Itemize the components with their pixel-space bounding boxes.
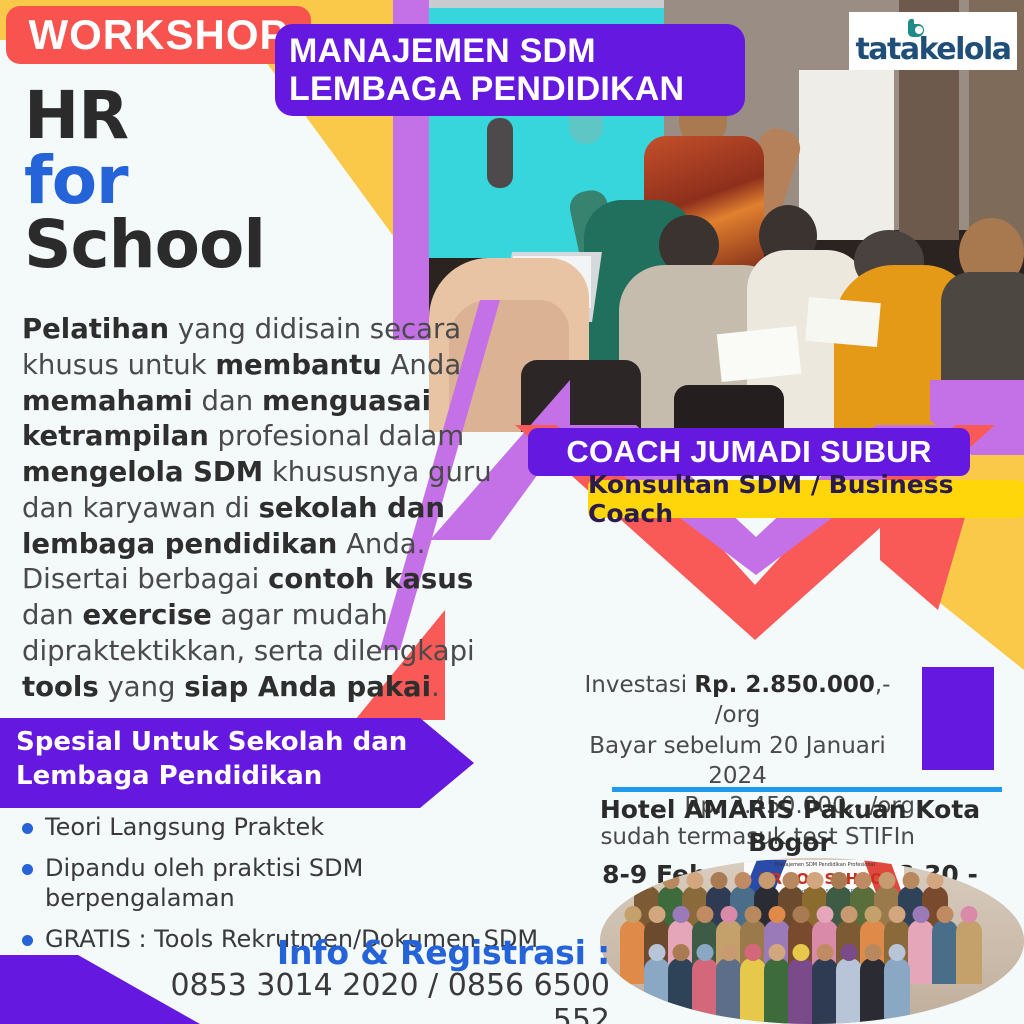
emphasis-text: tools: [22, 671, 99, 703]
group-photo-person-head: [759, 872, 776, 889]
group-photo-person: [764, 958, 790, 1024]
group-photo-person-head: [625, 906, 642, 923]
group-photo-person: [716, 958, 742, 1024]
coach-name-label: COACH JUMADI SUBUR: [566, 434, 931, 470]
special-offer-line-1: Spesial Untuk Sekolah dan: [16, 726, 474, 760]
bullet-dot-icon: [22, 935, 33, 946]
body-text: Anda: [382, 349, 461, 381]
group-photo-person: [860, 958, 886, 1024]
tatakelola-logo: tatakelola: [849, 12, 1017, 70]
group-photo-person-head: [903, 872, 920, 889]
contact-heading: Info & Registrasi :: [150, 933, 610, 972]
price-line-1: Investasi Rp. 2.850.000,- /org: [560, 670, 915, 731]
photo-paper-2: [805, 297, 881, 347]
price-line-2: Bayar sebelum 20 Januari 2024: [560, 731, 915, 792]
body-text: dan: [193, 385, 262, 417]
group-photo-person-head: [913, 906, 930, 923]
group-photo-person-head: [889, 944, 906, 961]
subject-banner: MANAJEMEN SDM LEMBAGA PENDIDIKAN: [275, 24, 745, 116]
group-photo-person-head: [745, 906, 762, 923]
group-photo-row: [644, 958, 910, 1024]
group-photo-person-head: [927, 872, 944, 889]
logo-wordmark: tatakelola: [855, 35, 1010, 65]
bullet-dot-icon: [22, 864, 33, 875]
group-photo-person: [956, 920, 982, 984]
photo-chair-2: [674, 385, 784, 432]
group-photo-person-head: [697, 944, 714, 961]
group-photo-person-head: [817, 906, 834, 923]
group-photo-person-head: [697, 906, 714, 923]
photo-flipchart: [799, 70, 894, 240]
group-photo-person: [620, 920, 646, 984]
emphasis-text: siap Anda pakai: [184, 671, 431, 703]
body-text: dan: [22, 599, 82, 631]
group-photo-person-head: [831, 872, 848, 889]
list-item: Dipandu oleh praktisi SDM berpengalaman: [22, 853, 542, 913]
group-photo-person-head: [663, 872, 680, 889]
list-item-label: Dipandu oleh praktisi SDM berpengalaman: [45, 853, 542, 913]
purple-square-accent: [922, 667, 994, 770]
contact-phone-numbers: 0853 3014 2020 / 0856 6500 552: [150, 968, 610, 1024]
group-photo-person: [668, 958, 694, 1024]
group-photo-person: [812, 958, 838, 1024]
list-item: Teori Langsung Praktek: [22, 812, 542, 842]
headline-line-2: for: [24, 149, 404, 214]
description-paragraph: Pelatihan yang didisain secara khusus un…: [22, 312, 500, 705]
group-photo-person: [788, 958, 814, 1024]
group-photo-banner-subtitle: Manajemen SDM Pendidikan Profesional: [750, 862, 900, 868]
bullet-dot-icon: [22, 823, 33, 834]
subject-banner-line-2: LEMBAGA PENDIDIKAN: [289, 70, 729, 108]
group-photo-person-head: [783, 872, 800, 889]
coach-role-label: Konsultan SDM / Business Coach: [588, 470, 1024, 528]
group-photo-person-head: [721, 944, 738, 961]
emphasis-text: membantu: [215, 349, 382, 381]
photo-raised-hand-b: [487, 118, 513, 188]
subject-banner-line-1: MANAJEMEN SDM: [289, 32, 729, 70]
poster-canvas: tatakelola WORKSHOP HR for School MANAJE…: [0, 0, 1024, 1024]
group-photo-person-head: [769, 906, 786, 923]
group-photo-person-head: [879, 872, 896, 889]
coach-role-banner: Konsultan SDM / Business Coach: [588, 480, 1024, 518]
group-photo-person-head: [961, 906, 978, 923]
emphasis-text: contoh kasus: [268, 563, 473, 595]
venue-line-1: Hotel AMARIS Pakuan Kota Bogor: [560, 794, 1020, 859]
group-photo-person: [884, 958, 910, 1024]
group-photo-person: [740, 958, 766, 1024]
group-photo-person-head: [649, 906, 666, 923]
group-photo-person: [644, 958, 670, 1024]
body-text: .: [431, 671, 440, 703]
special-offer-banner: Spesial Untuk Sekolah dan Lembaga Pendid…: [0, 718, 474, 808]
divider-rule: [612, 787, 1002, 792]
body-text: yang: [99, 671, 185, 703]
workshop-badge: WORKSHOP: [6, 6, 311, 64]
group-photo-person-head: [769, 944, 786, 961]
headline-line-3: School: [24, 213, 404, 278]
group-photo-person-head: [649, 944, 666, 961]
group-photo-person-head: [793, 944, 810, 961]
group-photo-person-head: [841, 906, 858, 923]
group-photo-person-head: [711, 872, 728, 889]
group-photo-person-head: [855, 872, 872, 889]
group-photo-person-head: [735, 872, 752, 889]
group-photo-person-head: [865, 906, 882, 923]
group-photo-person-head: [673, 944, 690, 961]
group-photo-person-head: [687, 872, 704, 889]
group-photo-person-head: [807, 872, 824, 889]
group-photo-person-head: [865, 944, 882, 961]
coach-name-banner: COACH JUMADI SUBUR: [528, 428, 970, 476]
group-photo-person-head: [745, 944, 762, 961]
workshop-badge-label: WORKSHOP: [29, 11, 289, 59]
group-photo-person-head: [673, 906, 690, 923]
group-photo-person: [836, 958, 862, 1024]
group-photo-person: [932, 920, 958, 984]
group-photo-person: [908, 920, 934, 984]
person-leaf-icon: [849, 18, 1017, 38]
group-photo: Manajemen SDM Pendidikan Profesional HR …: [600, 858, 1024, 1024]
emphasis-text: memahami: [22, 385, 193, 417]
photo-paper-1: [717, 326, 802, 382]
group-photo-person-head: [817, 944, 834, 961]
group-photo-person-head: [793, 906, 810, 923]
emphasis-text: exercise: [82, 599, 211, 631]
group-photo-person-head: [889, 906, 906, 923]
group-photo-person: [692, 958, 718, 1024]
body-text: profesional dalam: [209, 420, 464, 452]
special-offer-line-2: Lembaga Pendidikan: [16, 760, 474, 794]
group-photo-person-head: [841, 944, 858, 961]
emphasis-text: mengelola SDM: [22, 456, 263, 488]
list-item-label: Teori Langsung Praktek: [45, 812, 324, 842]
group-photo-person-head: [721, 906, 738, 923]
price-amount: Rp. 2.850.000: [694, 672, 874, 698]
price-prefix: Investasi: [585, 672, 695, 698]
emphasis-text: Pelatihan: [22, 313, 169, 345]
group-photo-person-head: [937, 906, 954, 923]
group-photo-person-head: [639, 872, 656, 889]
